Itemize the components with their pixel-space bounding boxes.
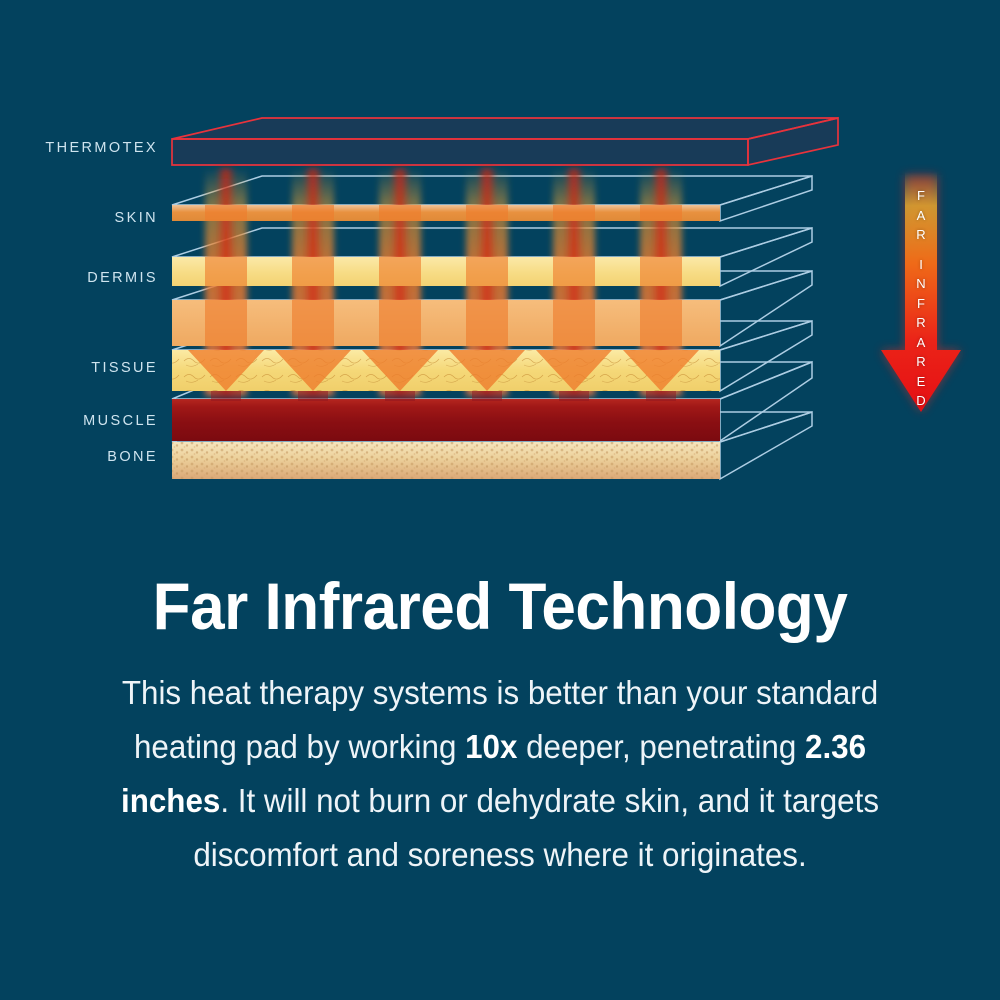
thermotex-pad-wireframe bbox=[172, 118, 838, 165]
infographic-root: F A R I N F R A R E D THERMOTEX SKIN DER… bbox=[0, 0, 1000, 1000]
para-highlight-multiplier: 10x bbox=[465, 728, 517, 765]
layer-label-tissue: TISSUE bbox=[0, 360, 158, 376]
layer-subcutaneous bbox=[172, 300, 720, 346]
layer-label-thermotex: THERMOTEX bbox=[0, 140, 158, 156]
far-infrared-arrow bbox=[881, 172, 961, 412]
layer-skin bbox=[172, 205, 720, 221]
layer-label-skin: SKIN bbox=[0, 210, 158, 226]
layer-label-dermis: DERMIS bbox=[0, 270, 158, 286]
layer-label-muscle: MUSCLE bbox=[0, 413, 158, 429]
layer-label-bone: BONE bbox=[0, 449, 158, 465]
layer-muscle bbox=[172, 399, 720, 441]
para-part: . It will not burn or dehydrate skin, an… bbox=[193, 782, 879, 873]
layer-bone bbox=[172, 442, 720, 479]
skin-penetration-diagram: F A R I N F R A R E D THERMOTEX SKIN DER… bbox=[0, 0, 1000, 540]
page-title: Far Infrared Technology bbox=[30, 568, 970, 644]
layer-dermis bbox=[172, 257, 720, 286]
para-part: deeper, penetrating bbox=[517, 728, 805, 765]
description-paragraph: This heat therapy systems is better than… bbox=[109, 666, 892, 882]
